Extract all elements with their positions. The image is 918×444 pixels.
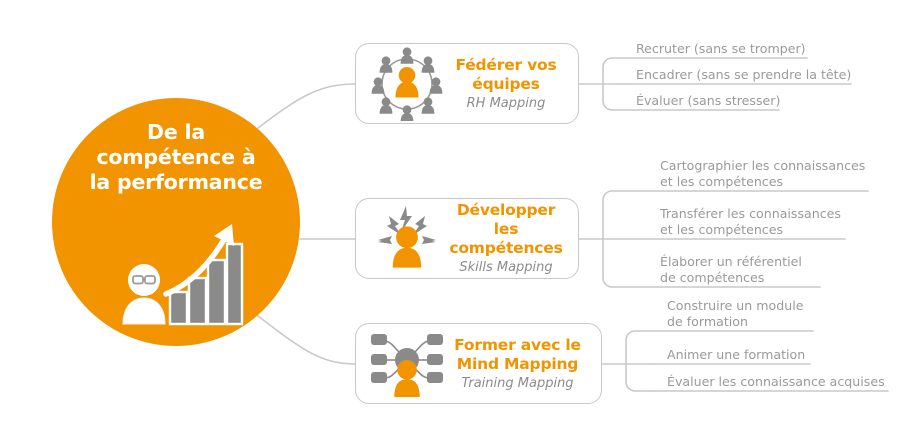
leaf-item-cartographier[interactable]: Cartographier les connaissances et les c… <box>660 158 890 190</box>
leaf-item-transferer[interactable]: Transférer les connaissances et les comp… <box>660 206 890 238</box>
leaf-item-construire[interactable]: Construire un module de formation <box>667 298 867 330</box>
leaf-branch-3-1 <box>626 331 655 364</box>
branch-title: Fédérer vos équipes <box>444 56 568 94</box>
mind-map-person-icon <box>370 327 444 401</box>
person-lightning-idea-icon <box>370 202 444 276</box>
leaf-branch-1-3 <box>603 84 624 110</box>
central-node[interactable]: De la compétence à la performance <box>52 98 300 346</box>
branch-title-line-2: compétences <box>444 239 568 258</box>
leaf-branch-2-1 <box>603 191 648 239</box>
leaf-item-evaluer-connaissance[interactable]: Évaluer les connaissance acquises <box>667 374 907 390</box>
central-title-line-1: De la <box>52 120 300 145</box>
branch-title: Former avec le Mind Mapping <box>444 336 591 374</box>
leaf-branch-3-3 <box>626 364 655 391</box>
branch-node-federer[interactable]: Fédérer vos équipes RH Mapping <box>355 43 579 124</box>
branch-subtitle: Training Mapping <box>444 375 591 392</box>
branch-title-line-2: Mind Mapping <box>444 355 591 374</box>
team-circle-icon <box>370 47 444 121</box>
mindmap-canvas: De la compétence à la performance <box>0 0 918 444</box>
branch-title-line-1: Fédérer vos <box>444 56 568 75</box>
branch-title-line-2: équipes <box>444 75 568 94</box>
branch-label-federer: Fédérer vos équipes RH Mapping <box>444 56 578 112</box>
page-title: De la compétence à la performance <box>52 120 300 195</box>
branch-subtitle: RH Mapping <box>444 95 568 112</box>
central-title-line-3: la performance <box>52 170 300 195</box>
central-title-line-2: compétence à <box>52 145 300 170</box>
leaf-branch-1-1 <box>603 58 624 84</box>
person-growth-chart-icon <box>114 220 244 330</box>
branch-title-line-1: Former avec le <box>444 336 591 355</box>
leaf-item-elaborer[interactable]: Élaborer un référentiel de compétences <box>660 254 890 286</box>
branch-label-former: Former avec le Mind Mapping Training Map… <box>444 336 601 392</box>
leaf-item-animer[interactable]: Animer une formation <box>667 347 867 363</box>
leaf-item-evaluer[interactable]: Évaluer (sans stresser) <box>636 93 836 109</box>
branch-node-former[interactable]: Former avec le Mind Mapping Training Map… <box>355 323 602 404</box>
leaf-branch-2-3 <box>603 239 648 287</box>
trunk-line-3 <box>258 316 355 364</box>
branch-node-developper[interactable]: Développer les compétences Skills Mappin… <box>355 198 579 279</box>
leaf-item-encadrer[interactable]: Encadrer (sans se prendre la tête) <box>636 67 866 83</box>
branch-subtitle: Skills Mapping <box>444 259 568 276</box>
leaf-item-recruter[interactable]: Recruter (sans se tromper) <box>636 41 836 57</box>
branch-title-line-1: Développer les <box>444 201 568 239</box>
branch-label-developper: Développer les compétences Skills Mappin… <box>444 201 578 276</box>
branch-title: Développer les compétences <box>444 201 568 258</box>
